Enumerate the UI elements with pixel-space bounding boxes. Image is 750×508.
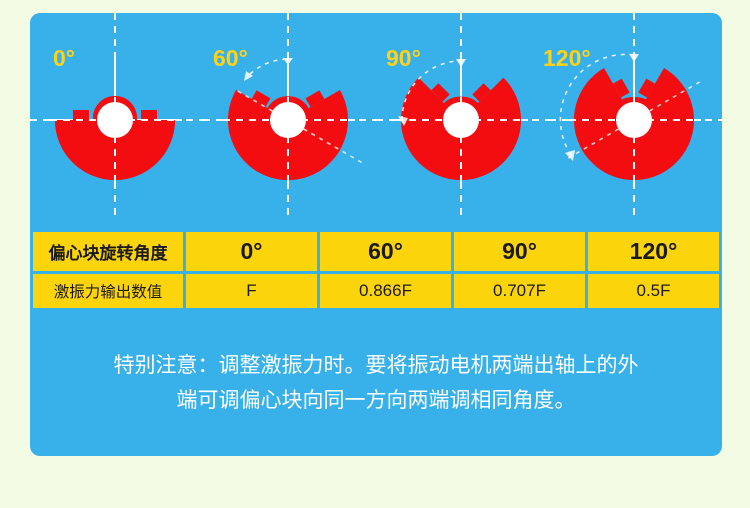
- angle-label-0: 0°: [53, 45, 75, 72]
- cell-force-90: 0.707F: [454, 274, 585, 308]
- notice-line-1: 特别注意：调整激振力时。要将振动电机两端出轴上的外: [48, 348, 704, 383]
- table-row-angle: 偏心块旋转角度 0° 60° 90° 120°: [33, 232, 719, 271]
- cell-angle-90: 90°: [454, 232, 585, 271]
- eccentric-block-diagram-120: 120°: [549, 13, 722, 218]
- diagram-60-graphic: [203, 13, 376, 218]
- row-header-angle: 偏心块旋转角度: [33, 232, 183, 271]
- table-row-force: 激振力输出数值 F 0.866F 0.707F 0.5F: [33, 274, 719, 308]
- cell-angle-0: 0°: [186, 232, 317, 271]
- cell-angle-120: 120°: [588, 232, 719, 271]
- cell-force-120: 0.5F: [588, 274, 719, 308]
- page-root: 0°: [0, 0, 750, 508]
- diagram-row: 0°: [30, 13, 722, 218]
- angle-label-120: 120°: [543, 45, 591, 72]
- cell-force-60: 0.866F: [320, 274, 451, 308]
- eccentric-block-diagram-90: 90°: [376, 13, 549, 218]
- rotation-arc-60: [250, 59, 288, 74]
- eccentric-block-diagram-0: 0°: [30, 13, 203, 218]
- eccentric-block-diagram-60: 60°: [203, 13, 376, 218]
- angle-label-90: 90°: [386, 45, 421, 72]
- cell-angle-60: 60°: [320, 232, 451, 271]
- cell-force-0: F: [186, 274, 317, 308]
- force-output-table: 偏心块旋转角度 0° 60° 90° 120° 激振力输出数值 F 0.866F…: [30, 229, 722, 311]
- diagram-90-graphic: [376, 13, 549, 218]
- notice-caption: 特别注意：调整激振力时。要将振动电机两端出轴上的外 端可调偏心块向同一方向两端调…: [48, 348, 704, 418]
- row-header-force: 激振力输出数值: [33, 274, 183, 308]
- diagram-120-graphic: [549, 13, 722, 218]
- diagram-0-graphic: [30, 13, 203, 218]
- angle-label-60: 60°: [213, 45, 248, 72]
- arc-arrow-head-120-b: [565, 150, 575, 161]
- notice-line-2: 端可调偏心块向同一方向两端调相同角度。: [48, 383, 704, 418]
